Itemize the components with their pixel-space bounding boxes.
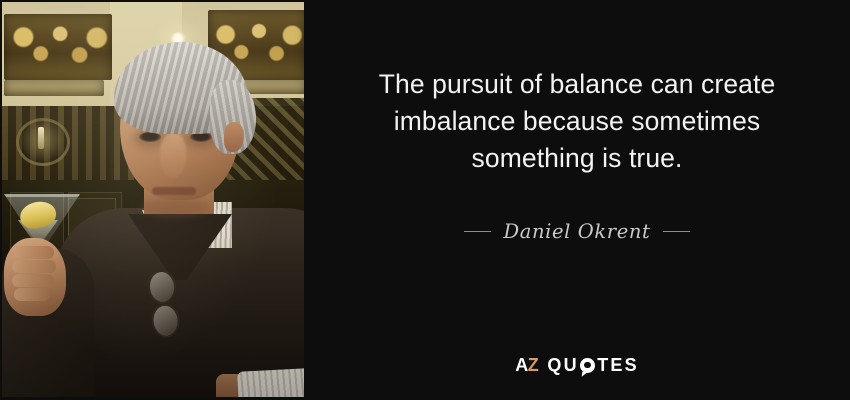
logo-az-mark: AZ	[515, 356, 538, 374]
chin-shadow	[142, 198, 208, 216]
photo-inner	[2, 2, 304, 397]
candle-sconce	[38, 127, 44, 149]
author-photo	[0, 0, 304, 400]
logo-letter-z: Z	[528, 355, 539, 375]
shirt-cuff	[237, 368, 304, 397]
attribution-dash-left	[464, 231, 491, 232]
finger-4	[14, 288, 50, 301]
quote-card: The pursuit of balance can create imbala…	[0, 0, 850, 400]
logo-quotes-part-1: QU	[547, 356, 578, 374]
finger-2	[12, 260, 56, 273]
gold-ornament-left	[4, 14, 112, 80]
attribution: Daniel Okrent	[304, 220, 850, 243]
finger-3	[12, 274, 54, 287]
nose	[160, 134, 186, 178]
azquotes-logo[interactable]: AZ QU TES	[304, 356, 850, 374]
speech-bubble-icon	[580, 358, 595, 373]
mouth	[152, 187, 196, 195]
logo-quotes-part-2: TES	[597, 356, 639, 374]
quote-text: The pursuit of balance can create imbala…	[330, 66, 824, 177]
logo-quotes-word: QU TES	[547, 356, 638, 374]
attribution-author-name: Daniel Okrent	[504, 220, 651, 243]
wall-medallion	[16, 118, 70, 166]
quote-content: The pursuit of balance can create imbala…	[304, 0, 850, 400]
gold-molding-left	[4, 80, 104, 96]
finger-1	[14, 246, 54, 259]
logo-letter-a: A	[515, 355, 528, 375]
attribution-dash-right	[663, 231, 690, 232]
